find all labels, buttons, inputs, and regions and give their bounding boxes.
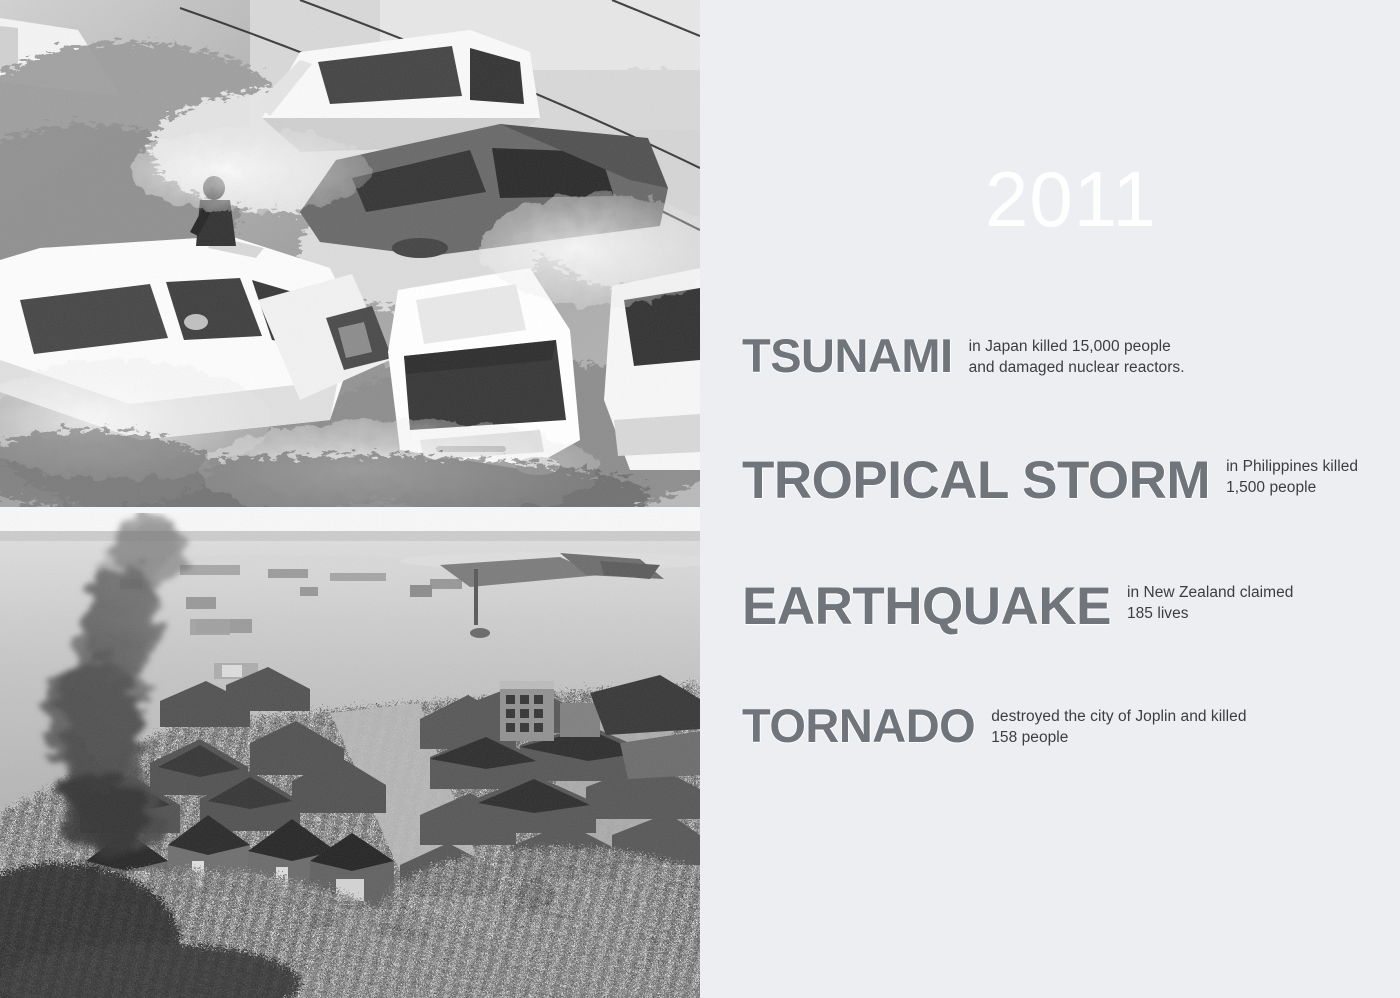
fact-item-tropical-storm: TROPICAL STORM in Philippines killed 1,5… xyxy=(742,452,1358,507)
text-panel: 2011 TSUNAMI in Japan killed 15,000 peop… xyxy=(700,0,1400,998)
photo-column xyxy=(0,0,700,998)
infographic-slide: 2011 TSUNAMI in Japan killed 15,000 peop… xyxy=(0,0,1400,998)
tsunami-town-illustration xyxy=(0,513,700,998)
tsunami-town-photo xyxy=(0,513,700,998)
tsunami-cars-illustration xyxy=(0,0,700,507)
fact-body-tornado: destroyed the city of Joplin and killed … xyxy=(991,700,1246,749)
fact-headline-tsunami: TSUNAMI xyxy=(742,330,953,379)
fact-item-tsunami: TSUNAMI in Japan killed 15,000 people an… xyxy=(742,330,1185,379)
fact-body-earthquake: in New Zealand claimed 185 lives xyxy=(1127,578,1294,625)
fact-body-tsunami: in Japan killed 15,000 people and damage… xyxy=(969,330,1185,379)
tsunami-cars-photo xyxy=(0,0,700,507)
fact-item-earthquake: EARTHQUAKE in New Zealand claimed 185 li… xyxy=(742,578,1293,633)
fact-headline-tornado: TORNADO xyxy=(742,700,975,749)
fact-headline-tropical-storm: TROPICAL STORM xyxy=(742,452,1210,507)
year-title: 2011 xyxy=(985,160,1157,238)
fact-item-tornado: TORNADO destroyed the city of Joplin and… xyxy=(742,700,1247,749)
fact-body-tropical-storm: in Philippines killed 1,500 people xyxy=(1226,452,1358,499)
fact-headline-earthquake: EARTHQUAKE xyxy=(742,578,1111,633)
